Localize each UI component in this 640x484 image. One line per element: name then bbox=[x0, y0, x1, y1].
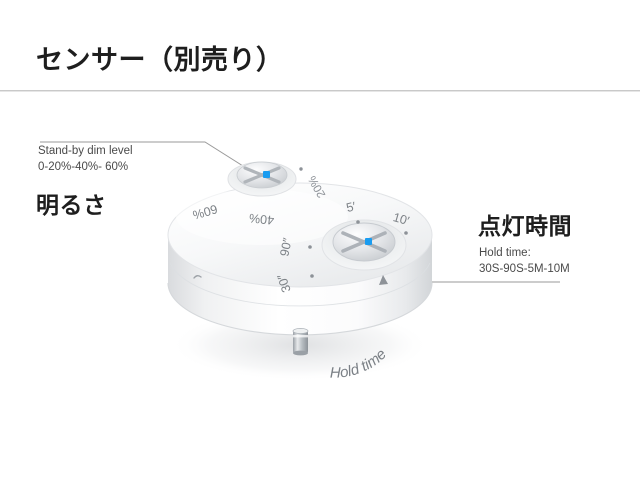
hold-time-dial[interactable] bbox=[322, 220, 406, 270]
dim-callout-label: Stand-by dim level bbox=[38, 144, 133, 160]
hold-callout-values: 30S-90S-5M-10M bbox=[479, 262, 570, 278]
dim-marking-40: 40% bbox=[248, 211, 274, 228]
sensor-device-illustration: 60% 40% 20% 30″ 90″ 5′ 10′ bbox=[150, 145, 460, 400]
stand-by-dim-level-dial[interactable] bbox=[228, 162, 296, 196]
hold-tick-dot-10 bbox=[404, 231, 408, 235]
header-divider bbox=[0, 90, 640, 92]
dim-dial-indicator bbox=[263, 171, 270, 178]
sensor-device-graphic: 60% 40% 20% 30″ 90″ 5′ 10′ bbox=[150, 145, 460, 400]
dim-callout-values: 0-20%-40%- 60% bbox=[38, 160, 133, 176]
hold-dial-indicator bbox=[365, 238, 372, 245]
dim-tick-dot-1 bbox=[299, 167, 302, 170]
page-title: センサー（別売り） bbox=[36, 44, 284, 76]
hold-tick-dot-5 bbox=[356, 220, 360, 224]
dim-callout-text-block: Stand-by dim level 0-20%-40%- 60% bbox=[38, 144, 133, 175]
hold-callout-heading: 点灯時間 bbox=[478, 207, 572, 241]
device-connector-pin bbox=[293, 328, 308, 355]
dim-callout-heading: 明るさ bbox=[36, 186, 107, 220]
hold-tick-dot-90 bbox=[308, 245, 312, 249]
hold-callout-text-block: Hold time: 30S-90S-5M-10M bbox=[479, 246, 570, 277]
hold-callout-label: Hold time: bbox=[479, 246, 570, 262]
hold-tick-dot-30 bbox=[310, 274, 314, 278]
